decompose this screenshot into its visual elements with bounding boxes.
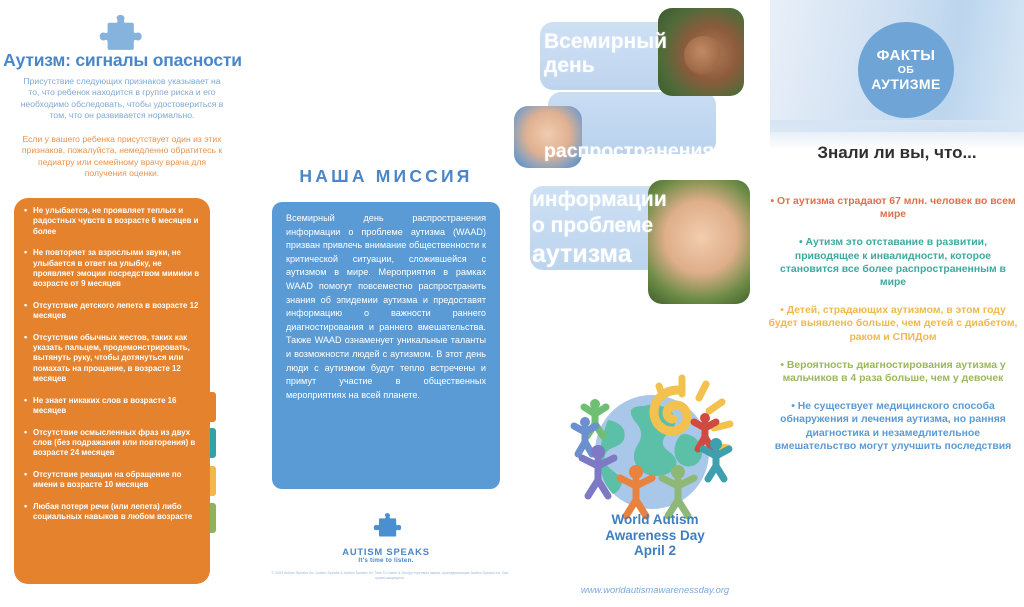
autism-speaks-tagline: It's time to listen. <box>258 557 514 564</box>
brochure-page: Аутизм: сигналы опасности Присутствие сл… <box>0 0 1024 607</box>
waad-website-url[interactable]: www.worldautismawarenessday.org <box>520 584 790 595</box>
collage-overlay-line-6: аутизма <box>532 240 632 269</box>
mission-box: Всемирный день распространения информаци… <box>272 202 500 489</box>
autism-speaks-puzzle-icon <box>373 512 401 542</box>
facts-badge-line2: ОБ <box>898 65 915 76</box>
warning-signs-list: Не улыбается, не проявляет теплых и радо… <box>24 206 204 533</box>
collage-overlay-line-1: Всемирный <box>544 30 667 54</box>
warning-sign-item: Не улыбается, не проявляет теплых и радо… <box>24 206 204 237</box>
collage-overlay-line-4: информации <box>532 188 667 212</box>
did-you-know-title: Знали ли вы, что... <box>770 143 1024 163</box>
warning-sign-item: Отсутствие обычных жестов, таких как ука… <box>24 333 204 385</box>
fact-item: • Аутизм это отставание в развитии, прив… <box>762 236 1024 289</box>
warning-sign-item: Любая потеря речи (или лепета) либо соци… <box>24 502 204 523</box>
warning-sign-item: Отсутствие осмысленных фраз из двух слов… <box>24 428 204 459</box>
waad-title-line3: April 2 <box>540 543 770 559</box>
waad-title-line1: World Autism <box>540 512 770 528</box>
warning-sign-item: Не повторяет за взрослыми звуки, не улыб… <box>24 248 204 290</box>
mission-title: НАША МИССИЯ <box>258 166 514 187</box>
left-intro-text: Присутствие следующих признаков указывае… <box>18 76 226 121</box>
photo-boy-profile <box>658 8 744 96</box>
fact-item: • От аутизма страдают 67 млн. человек во… <box>762 195 1024 221</box>
facts-badge-line3: АУТИЗМЕ <box>871 77 940 92</box>
mission-body-text: Всемирный день распространения информаци… <box>286 212 486 402</box>
page-title: Аутизм: сигналы опасности <box>0 50 245 71</box>
facts-list: • От аутизма страдают 67 млн. человек во… <box>762 195 1024 468</box>
fact-item: • Вероятность диагностирования аутизма у… <box>762 359 1024 385</box>
warning-signs-box: Не улыбается, не проявляет теплых и радо… <box>14 198 210 584</box>
facts-badge: ФАКТЫ ОБ АУТИЗМЕ <box>858 22 954 118</box>
fact-item: • Детей, страдающих аутизмом, в этом год… <box>762 304 1024 344</box>
warning-sign-item: Отсутствие реакции на обращение по имени… <box>24 470 204 491</box>
autism-speaks-wordmark: AUTISM SPEAKS <box>258 546 514 557</box>
photo-collage: Всемирный день распространения информаци… <box>510 0 770 330</box>
left-column: Аутизм: сигналы опасности Присутствие сл… <box>0 0 245 607</box>
collage-overlay-line-5: о проблеме <box>532 214 653 238</box>
warning-sign-item: Отсутствие детского лепета в возрасте 12… <box>24 301 204 322</box>
left-warning-text: Если у вашего ребенка присутствует один … <box>16 134 228 179</box>
copyright-fine-print: © 2009 Autism Speaks Inc. Autism Speaks … <box>270 571 510 582</box>
facts-badge-line1: ФАКТЫ <box>877 48 936 64</box>
waad-title-line2: Awareness Day <box>540 528 770 544</box>
fact-item: • Не существует медицинского способа обн… <box>762 400 1024 453</box>
warning-sign-item: Не знает никаких слов в возрасте 16 меся… <box>24 396 204 417</box>
waad-title: World Autism Awareness Day April 2 <box>540 512 770 559</box>
collage-overlay-line-2: день <box>544 54 595 78</box>
collage-overlay-line-3: распространения <box>544 140 714 163</box>
